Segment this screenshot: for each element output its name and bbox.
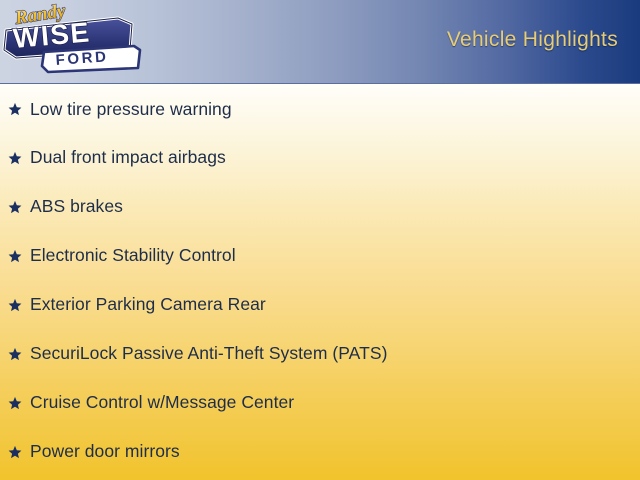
vehicle-highlights-slide: Randy WISE FORD Vehicle Highlights Low t…: [0, 0, 640, 480]
list-item[interactable]: Low tire pressure warning: [0, 84, 640, 133]
list-item[interactable]: Exterior Parking Camera Rear: [0, 280, 640, 329]
list-item-label: Electronic Stability Control: [30, 245, 236, 266]
list-item[interactable]: Electronic Stability Control: [0, 231, 640, 280]
star-icon: [8, 200, 22, 214]
highlights-panel: Low tire pressure warning Dual front imp…: [0, 84, 640, 480]
vehicle-highlights-list: Low tire pressure warning Dual front imp…: [0, 84, 640, 476]
star-icon: [8, 445, 22, 459]
star-icon: [8, 151, 22, 165]
list-item-label: Power door mirrors: [30, 441, 180, 462]
randy-wise-ford-logo[interactable]: Randy WISE FORD: [0, 0, 148, 84]
star-icon: [8, 249, 22, 263]
page-title: Vehicle Highlights: [447, 28, 618, 52]
list-item[interactable]: SecuriLock Passive Anti-Theft System (PA…: [0, 329, 640, 378]
list-item[interactable]: Dual front impact airbags: [0, 133, 640, 182]
star-icon: [8, 396, 22, 410]
list-item[interactable]: Power door mirrors: [0, 427, 640, 476]
star-icon: [8, 347, 22, 361]
list-item[interactable]: ABS brakes: [0, 182, 640, 231]
list-item-label: Dual front impact airbags: [30, 147, 226, 168]
list-item-label: Low tire pressure warning: [30, 99, 232, 120]
list-item-label: Exterior Parking Camera Rear: [30, 294, 266, 315]
star-icon: [8, 102, 22, 116]
list-item-label: ABS brakes: [30, 196, 123, 217]
list-item-label: Cruise Control w/Message Center: [30, 392, 294, 413]
list-item[interactable]: Cruise Control w/Message Center: [0, 378, 640, 427]
list-item-label: SecuriLock Passive Anti-Theft System (PA…: [30, 343, 387, 364]
header-banner: Randy WISE FORD Vehicle Highlights: [0, 0, 640, 84]
star-icon: [8, 298, 22, 312]
